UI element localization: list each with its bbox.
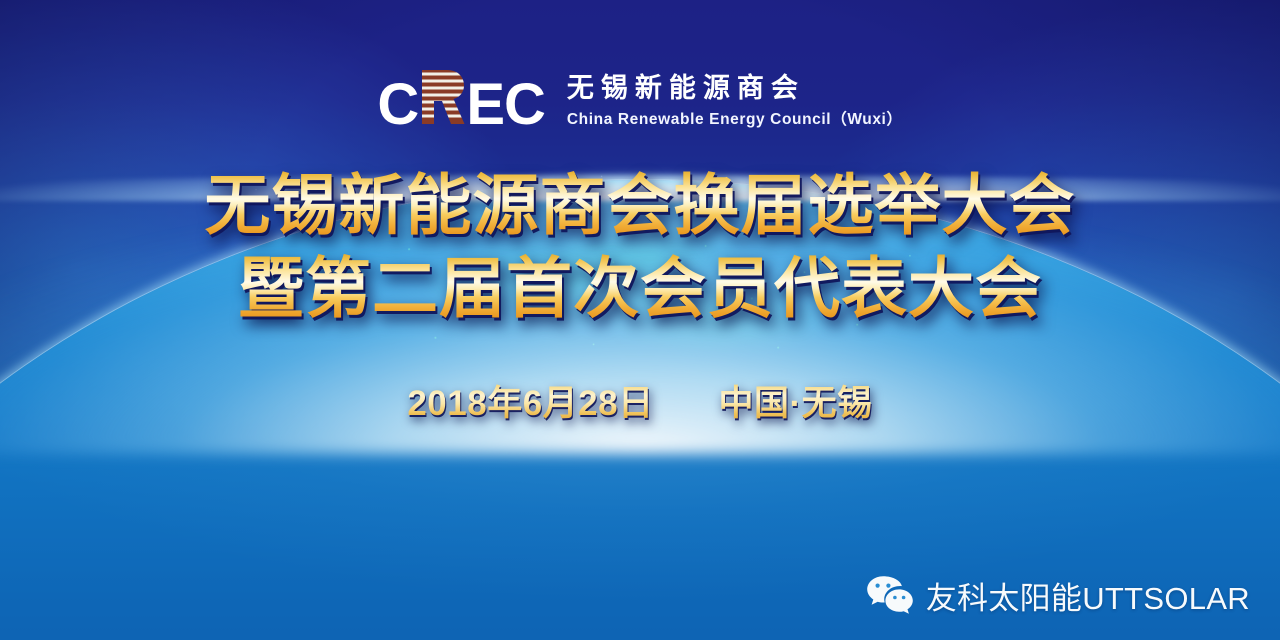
crec-letter-c2: C <box>504 76 545 134</box>
event-title-line-1: 无锡新能源商会换届选举大会 <box>0 168 1280 243</box>
event-date: 2018年6月28日 <box>407 375 653 426</box>
event-title: 无锡新能源商会换届选举大会 暨第二届首次会员代表大会 <box>0 168 1280 326</box>
org-name-en: China Renewable Energy Council（Wuxi） <box>567 107 903 129</box>
event-title-line-2: 暨第二届首次会员代表大会 <box>0 251 1280 326</box>
crec-letter-r-striped-icon <box>419 68 465 124</box>
crec-org-names: 无锡新能源商会 China Renewable Energy Council（W… <box>567 73 903 129</box>
wechat-watermark: 友科太阳能UTTSOLAR <box>866 573 1250 618</box>
event-location: 中国·无锡 <box>719 375 873 426</box>
conference-banner: C <box>0 0 1280 640</box>
event-meta: 2018年6月28日 中国·无锡 <box>0 375 1280 426</box>
crec-logo: C <box>0 68 1280 134</box>
crec-wordmark: C <box>377 68 544 134</box>
org-name-cn: 无锡新能源商会 <box>567 73 903 103</box>
crec-letter-e: E <box>466 76 504 134</box>
wechat-account-name: 友科太阳能UTTSOLAR <box>926 573 1250 618</box>
crec-letter-c1: C <box>377 76 418 134</box>
wechat-icon <box>866 575 914 617</box>
